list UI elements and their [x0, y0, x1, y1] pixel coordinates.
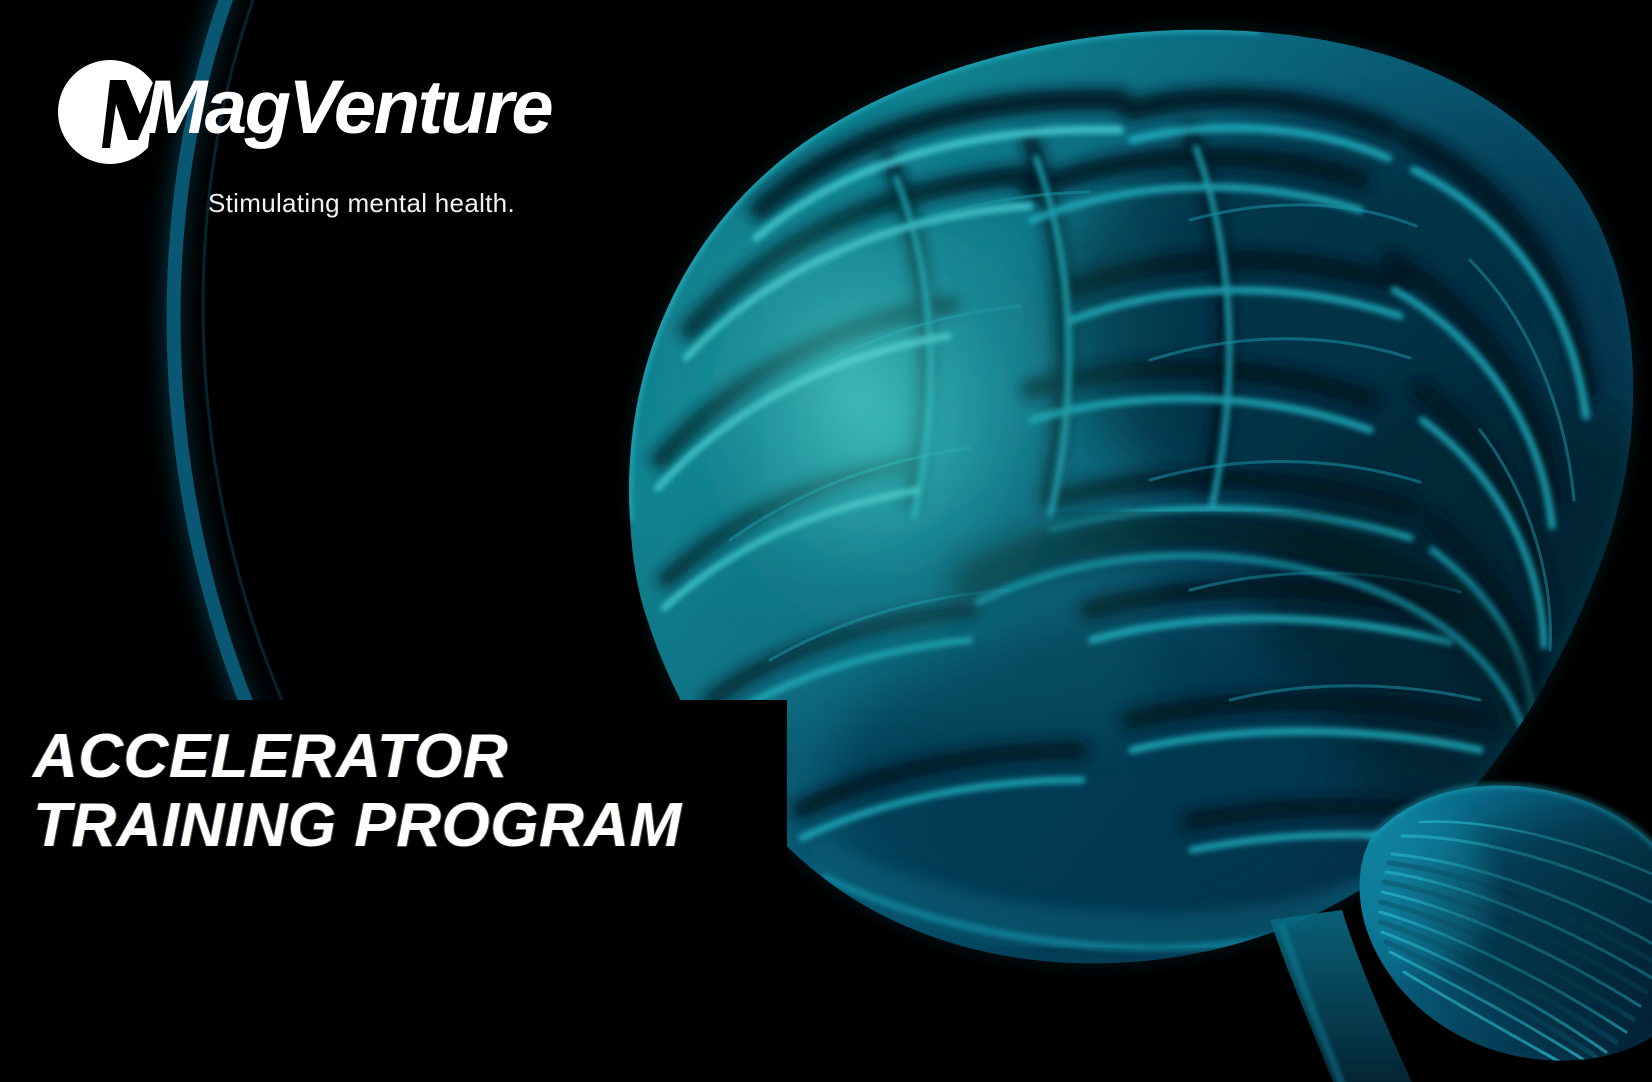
page-title: ACCELERATOR TRAINING PROGRAM: [33, 722, 773, 861]
presentation-slide: MagVenture Stimulating mental health. AC…: [0, 0, 1652, 1082]
page-title-line-2: TRAINING PROGRAM: [33, 791, 773, 860]
page-title-line-1: ACCELERATOR: [33, 722, 773, 791]
arc-mask-right: [760, 0, 1652, 1082]
magventure-wordmark: MagVenture: [144, 70, 551, 146]
magventure-logo: MagVenture Stimulating mental health.: [58, 52, 488, 182]
magventure-tagline: Stimulating mental health.: [208, 188, 515, 219]
